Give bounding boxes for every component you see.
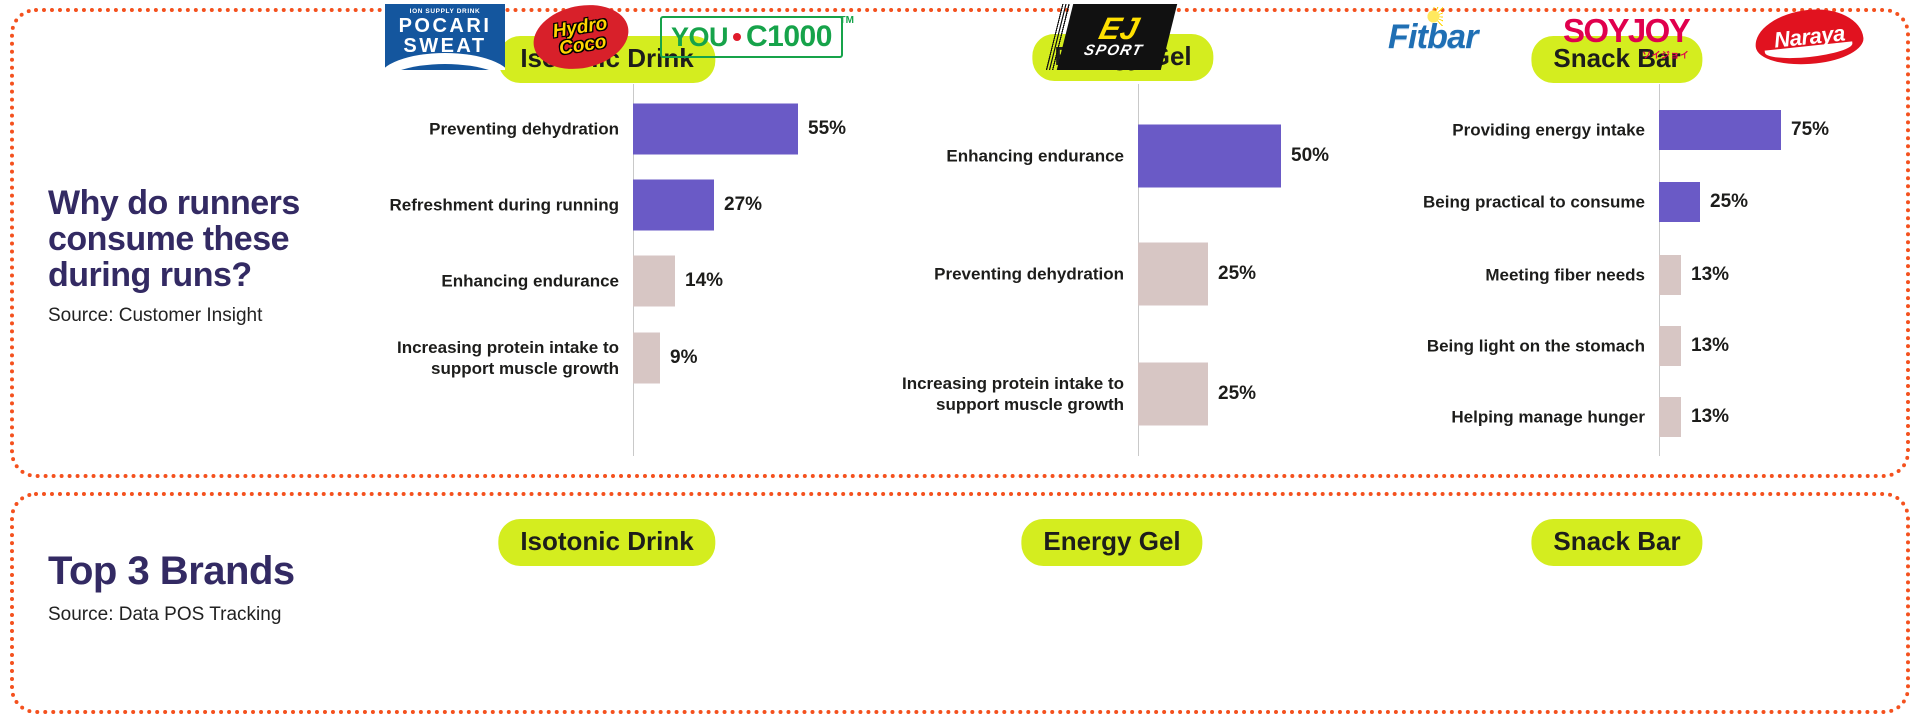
bar-category-label: Refreshment during running — [359, 194, 633, 215]
bar-segment — [633, 104, 798, 155]
brand-logo-you-c1000: YOU C1000 TM — [660, 0, 843, 74]
bar-category-label: Enhancing endurance — [874, 145, 1138, 166]
soyjoy-mark: SOYJOY ソイジョイ — [1563, 14, 1689, 61]
bar-segment — [633, 256, 675, 307]
brand-logo-pocari-sweat: ION SUPPLY DRINK POCARI SWEAT — [385, 0, 505, 74]
brand-logo-fitbar: Fitbar — [1388, 0, 1478, 74]
bar-category-label: Helping manage hunger — [1405, 406, 1659, 427]
pill-isotonic-drink-brands: Isotonic Drink — [498, 519, 715, 566]
bar-segment — [633, 180, 714, 231]
brands-left-column: Top 3 Brands Source: Data POS Tracking — [48, 550, 348, 626]
brand-logo-naraya: Naraya — [1755, 0, 1863, 74]
soyjoy-wordmark: SOYJOY — [1563, 14, 1689, 47]
ej-sport-mark: EJ SPORT — [1057, 4, 1177, 70]
bar-category-label: Increasing protein intake to support mus… — [359, 337, 633, 380]
page-title: Why do runners consume these during runs… — [48, 185, 348, 293]
pill-energy-gel-brands: Energy Gel — [1021, 519, 1202, 566]
bar-segment — [1659, 397, 1681, 437]
youc-word-2: C1000 — [746, 22, 832, 52]
brand-logo-soyjoy: SOYJOY ソイジョイ — [1563, 0, 1689, 74]
bar-value-label: 25% — [1700, 191, 1748, 213]
fitbar-mark: Fitbar — [1388, 18, 1478, 57]
bar-segment — [1138, 363, 1208, 426]
bar-category-label: Enhancing endurance — [359, 270, 633, 291]
bar-value-label: 14% — [675, 270, 723, 292]
bar-category-label: Increasing protein intake to support mus… — [874, 373, 1138, 416]
youc-word-1: YOU — [671, 24, 728, 51]
ej-word-1: EJ — [1097, 15, 1142, 43]
brand-logo-hydro-coco: Hydro Coco — [533, 0, 629, 74]
bar-segment — [1659, 326, 1681, 366]
bar-category-label: Preventing dehydration — [359, 118, 633, 139]
bar-value-label: 55% — [798, 118, 846, 140]
brands-title: Top 3 Brands — [48, 550, 348, 592]
youc-dot-icon — [733, 33, 741, 41]
bar-value-label: 25% — [1208, 263, 1256, 285]
bar-value-label: 25% — [1208, 383, 1256, 405]
bar-segment — [1138, 243, 1208, 306]
hydro-coco-wordmark: Hydro Coco — [551, 15, 611, 59]
bar-category-label: Being practical to consume — [1405, 191, 1659, 212]
hydro-coco-mark: Hydro Coco — [533, 2, 629, 72]
bar-value-label: 27% — [714, 194, 762, 216]
pill-snack-bar-brands: Snack Bar — [1531, 519, 1702, 566]
chart-snack-bar: Providing energy intake 75% Being practi… — [1659, 84, 1919, 456]
bar-category-label: Being light on the stomach — [1405, 335, 1659, 356]
bar-value-label: 13% — [1681, 406, 1729, 428]
pocari-sweat-mark: ION SUPPLY DRINK POCARI SWEAT — [385, 4, 505, 70]
bar-segment — [1138, 125, 1281, 188]
bar-segment — [1659, 255, 1681, 295]
bar-value-label: 9% — [660, 347, 697, 369]
bar-category-label: Providing energy intake — [1405, 119, 1659, 140]
ej-word-2: SPORT — [1082, 43, 1145, 60]
insights-left-column: Why do runners consume these during runs… — [48, 185, 348, 327]
pocari-word-1: POCARI — [399, 16, 492, 37]
brand-logo-ej-sport: EJ SPORT — [1065, 0, 1169, 74]
bar-category-label: Meeting fiber needs — [1405, 264, 1659, 285]
you-c1000-mark: YOU C1000 TM — [660, 16, 843, 58]
soyjoy-kana-label: ソイジョイ — [1642, 48, 1689, 61]
bar-segment — [1659, 182, 1700, 222]
bar-value-label: 13% — [1681, 264, 1729, 286]
bar-segment — [1659, 110, 1781, 150]
naraya-mark: Naraya — [1755, 10, 1863, 64]
insights-source-label: Source: Customer Insight — [48, 305, 348, 327]
bar-value-label: 75% — [1781, 119, 1829, 141]
sun-icon — [1424, 7, 1443, 26]
bar-value-label: 50% — [1281, 145, 1329, 167]
bar-segment — [633, 333, 660, 384]
bar-value-label: 13% — [1681, 335, 1729, 357]
bar-category-label: Preventing dehydration — [874, 263, 1138, 284]
brands-source-label: Source: Data POS Tracking — [48, 604, 348, 626]
youc-trademark-label: TM — [839, 15, 853, 26]
